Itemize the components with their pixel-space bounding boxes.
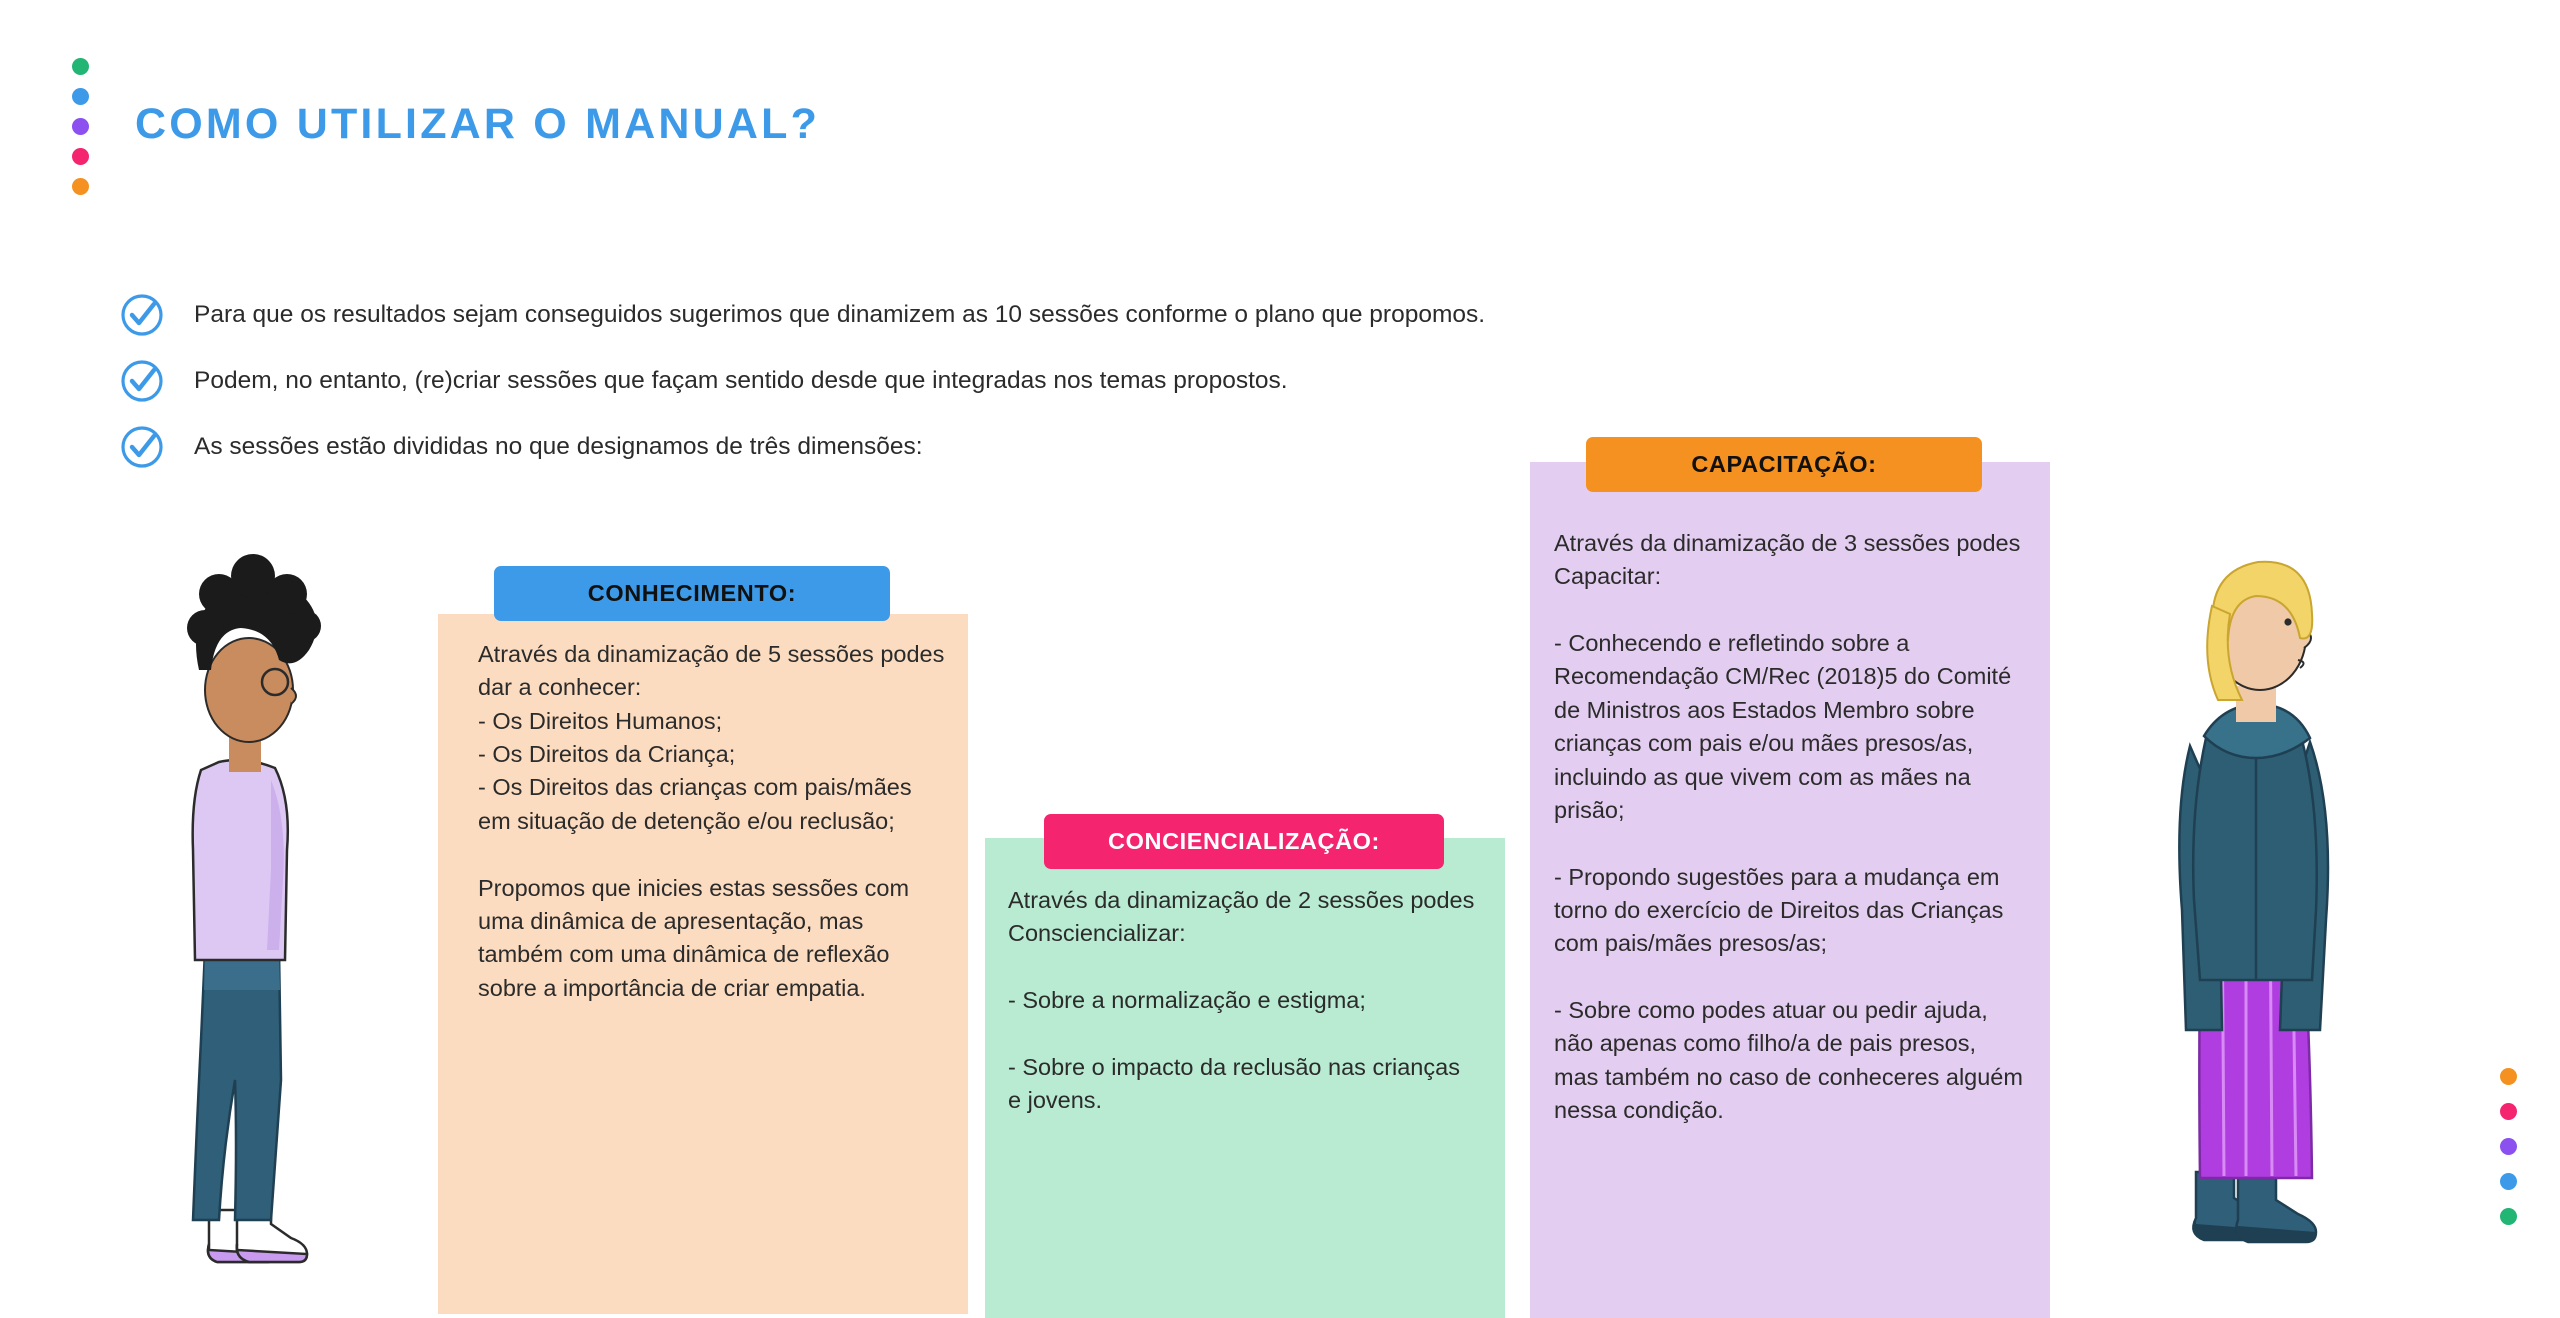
checklist-item-text: As sessões estão divididas no que design… xyxy=(194,431,923,463)
illustration-person-right xyxy=(2160,510,2370,1285)
card-conciencializacao-body: Através da dinamização de 2 sessões pode… xyxy=(1008,884,1478,1118)
card-capacitacao-body: Através da dinamização de 3 sessões pode… xyxy=(1554,527,2024,1127)
dot-green xyxy=(72,58,89,75)
header-dot-column xyxy=(72,58,89,195)
check-circle-icon xyxy=(120,293,164,337)
dot-blue xyxy=(2500,1173,2517,1190)
dot-pink xyxy=(72,148,89,165)
checklist-item-text: Para que os resultados sejam conseguidos… xyxy=(194,299,1485,331)
illustration-person-left xyxy=(175,520,375,1285)
card-conhecimento-body: Através da dinamização de 5 sessões pode… xyxy=(478,638,948,1005)
card-conhecimento-title: CONHECIMENTO: xyxy=(494,566,890,621)
footer-dot-column xyxy=(2500,1068,2517,1225)
check-circle-icon xyxy=(120,425,164,469)
checklist: Para que os resultados sejam conseguidos… xyxy=(120,282,1820,480)
dot-orange xyxy=(2500,1068,2517,1085)
dot-purple xyxy=(2500,1138,2517,1155)
dot-orange xyxy=(72,178,89,195)
dot-pink xyxy=(2500,1103,2517,1120)
card-conciencializacao-title: CONCIENCIALIZAÇÃO: xyxy=(1044,814,1444,869)
checklist-item: Para que os resultados sejam conseguidos… xyxy=(120,282,1820,348)
dot-purple xyxy=(72,118,89,135)
checklist-item-text: Podem, no entanto, (re)criar sessões que… xyxy=(194,365,1288,397)
check-circle-icon xyxy=(120,359,164,403)
dot-green xyxy=(2500,1208,2517,1225)
card-capacitacao-title: CAPACITAÇÃO: xyxy=(1586,437,1982,492)
checklist-item: Podem, no entanto, (re)criar sessões que… xyxy=(120,348,1820,414)
dot-blue xyxy=(72,88,89,105)
page-title: COMO UTILIZAR O MANUAL? xyxy=(135,100,820,149)
